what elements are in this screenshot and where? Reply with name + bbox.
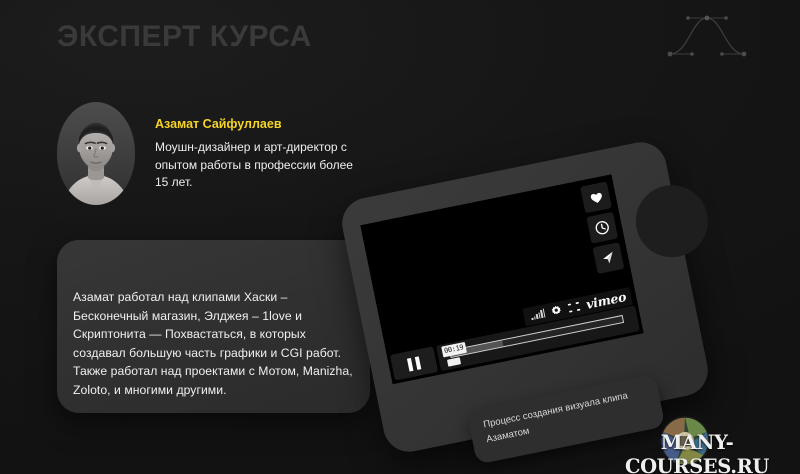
description-card: Азамат работал над клипами Хаски – Беско… — [57, 240, 370, 413]
description-text: Азамат работал над клипами Хаски – Беско… — [73, 288, 356, 400]
heart-icon — [588, 189, 605, 206]
gear-icon[interactable] — [550, 304, 564, 318]
pause-button[interactable] — [390, 346, 438, 380]
player-action-group — [580, 181, 624, 274]
like-button[interactable] — [580, 181, 612, 213]
expert-bio: Моушн-дизайнер и арт-директор с опытом р… — [155, 139, 365, 192]
pause-bar-right — [415, 356, 422, 370]
fullscreen-icon[interactable] — [568, 301, 582, 313]
slide-root: ЭКСПЕРТ КУРСА — [0, 0, 800, 474]
watermark: MANY-COURSES.RU — [604, 418, 790, 468]
seek-handle[interactable] — [447, 357, 461, 366]
card-notch — [629, 179, 714, 264]
page-title: ЭКСПЕРТ КУРСА — [57, 18, 312, 56]
share-icon — [600, 249, 618, 267]
avatar — [57, 102, 135, 205]
expert-name: Азамат Сайфуллаев — [155, 116, 365, 132]
watch-later-button[interactable] — [586, 212, 618, 244]
share-button[interactable] — [592, 242, 624, 274]
expert-block: Азамат Сайфуллаев Моушн-дизайнер и арт-д… — [57, 100, 357, 210]
expert-text: Азамат Сайфуллаев Моушн-дизайнер и арт-д… — [155, 116, 365, 192]
video-player[interactable]: vimeo 00:19 — [360, 174, 643, 384]
pause-bar-left — [407, 357, 414, 371]
volume-bars-icon[interactable] — [530, 309, 546, 321]
clock-icon — [593, 219, 611, 237]
easing-curve-icon — [662, 8, 752, 64]
player-control-bar: 00:19 — [390, 305, 640, 380]
watermark-text: MANY-COURSES.RU — [604, 431, 790, 474]
